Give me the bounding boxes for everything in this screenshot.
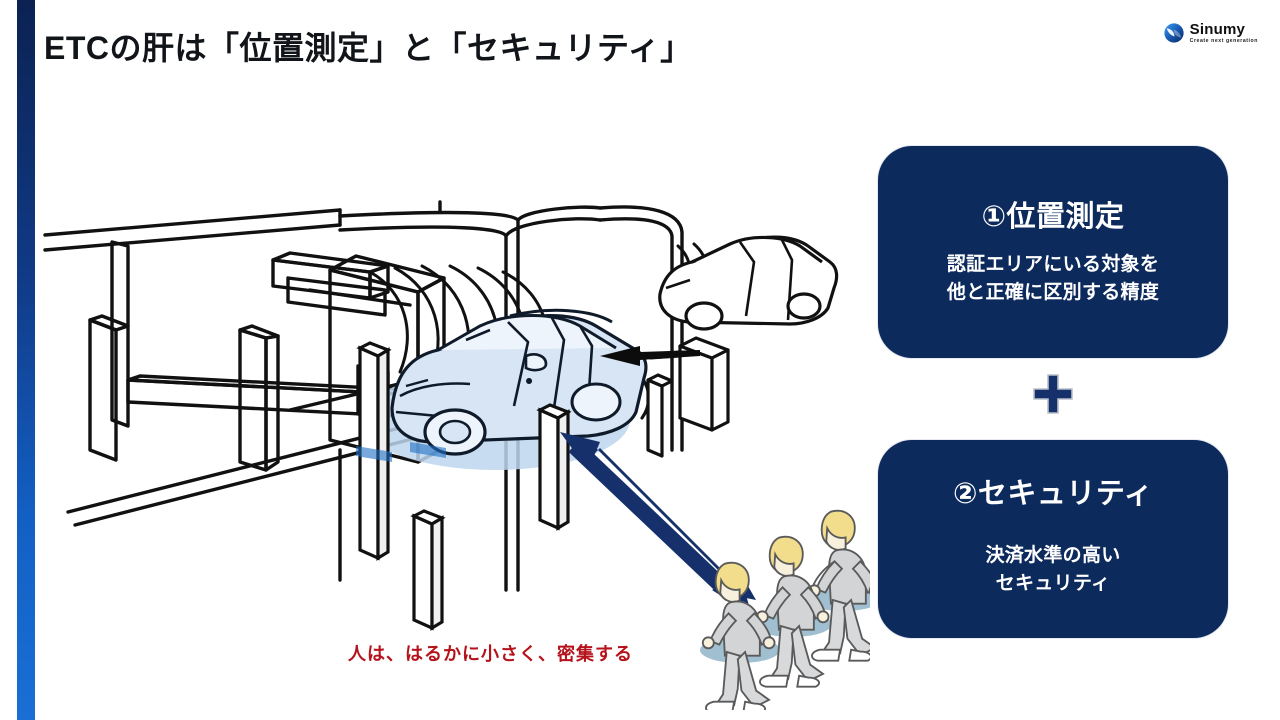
card-security: ②セキュリティ 決済水準の高い セキュリティ [878, 440, 1228, 638]
gantry-roof-beams [45, 210, 340, 250]
gantry-posts-left [90, 242, 278, 470]
plus-connector [1031, 372, 1075, 416]
logo-text-block: Sinumy Create next generation [1190, 22, 1258, 44]
card-title: ①位置測定 [981, 193, 1124, 235]
second-car [660, 237, 837, 329]
brand-logo: Sinumy Create next generation [1163, 22, 1258, 44]
globe-swoosh-icon [1163, 22, 1185, 44]
card-positioning: ①位置測定 認証エリアにいる対象を 他と正確に区別する精度 [878, 146, 1228, 358]
slide-canvas: ETCの肝は「位置測定」と「セキュリティ」 Sinumy Create next… [0, 0, 1280, 720]
illustration-svg [40, 150, 870, 710]
plus-icon [1031, 372, 1075, 416]
pedestrian [809, 511, 870, 661]
highlighted-car [392, 310, 646, 454]
etc-gantry-illustration [40, 150, 870, 710]
card-body: 認証エリアにいる対象を 他と正確に区別する精度 [947, 251, 1159, 306]
comparison-caption: 人は、はるかに小さく、密集する [348, 640, 633, 666]
card-body-line: 他と正確に区別する精度 [947, 279, 1159, 307]
pedestrian-group [700, 511, 870, 710]
logo-tagline: Create next generation [1190, 39, 1258, 44]
left-accent-bar [17, 0, 35, 720]
card-body-line: 決済水準の高い [985, 542, 1120, 570]
card-body-line: 認証エリアにいる対象を [947, 251, 1159, 279]
logo-name: Sinumy [1190, 22, 1258, 37]
card-body: 決済水準の高い セキュリティ [985, 542, 1120, 597]
pedestrian [757, 537, 829, 687]
page-title: ETCの肝は「位置測定」と「セキュリティ」 [44, 23, 693, 69]
card-body-line: セキュリティ [985, 570, 1120, 598]
card-title: ②セキュリティ [953, 470, 1153, 512]
